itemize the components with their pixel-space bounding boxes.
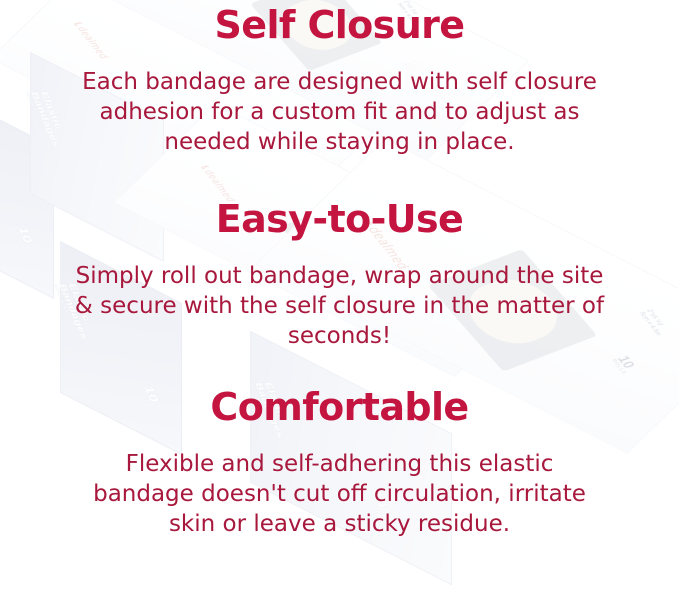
section-body-comfortable: Flexible and self-adhering this elastic … [0,450,679,540]
section-body-self-closure: Each bandage are designed with self clos… [0,68,679,158]
section-heading-self-closure: Self Closure [0,6,679,44]
section-body-easy-to-use: Simply roll out bandage, wrap around the… [0,262,679,352]
body-line: Each bandage are designed with self clos… [0,68,679,98]
body-line: adhesion for a custom fit and to adjust … [0,98,679,128]
body-line: Flexible and self-adhering this elastic [0,450,679,480]
section-heading-easy-to-use: Easy-to-Use [0,200,679,238]
body-line: bandage doesn't cut off circulation, irr… [0,480,679,510]
body-line: seconds! [0,322,679,352]
body-line: needed while staying in place. [0,128,679,158]
body-line: & secure with the self closure in the ma… [0,292,679,322]
body-line: Simply roll out bandage, wrap around the… [0,262,679,292]
body-line: skin or leave a sticky residue. [0,510,679,540]
section-heading-comfortable: Comfortable [0,388,679,426]
infographic-canvas: Elastic Bandages WITH SELF-CLOSURE 10 RO… [0,0,679,593]
feature-copy: Self Closure Each bandage are designed w… [0,0,679,593]
